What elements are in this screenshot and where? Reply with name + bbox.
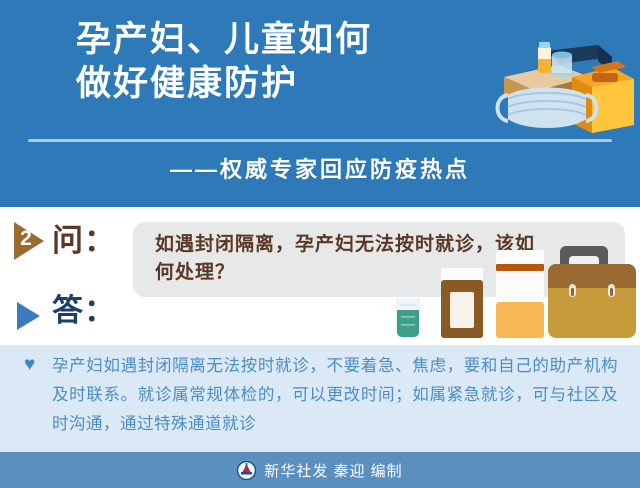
qa-section: 2 问： 答： 如遇封闭隔离，孕产妇无法按时就诊，该如何处理？ <box>0 207 640 345</box>
answer-panel: ♥ 孕产妇如遇封闭隔离无法按时就诊，不要着急、焦虑，要和自己的助产机构及时联系。… <box>0 345 640 452</box>
footer-credit: 新华社发 秦迎 编制 <box>264 460 402 481</box>
answer-marker: 答： <box>14 293 134 339</box>
medical-kit-icon <box>486 33 638 145</box>
page-title: 孕产妇、儿童如何 做好健康防护 <box>76 18 496 106</box>
title-line-1: 孕产妇、儿童如何 <box>76 18 496 62</box>
answer-text: 孕产妇如遇封闭隔离无法按时就诊，不要着急、焦虑，要和自己的助产机构及时联系。就诊… <box>52 352 618 439</box>
answer-label: 答： <box>52 289 116 333</box>
infographic-poster: 孕产妇、儿童如何 做好健康防护 ——权威专家回应防疫热点 <box>0 0 640 488</box>
header-subtitle: ——权威专家回应防疫热点 <box>0 152 640 184</box>
footer-bar: 新华社发 秦迎 编制 <box>0 452 640 488</box>
heart-icon: ♥ <box>24 355 44 375</box>
title-line-2: 做好健康防护 <box>76 62 496 106</box>
question-number: 2 <box>16 228 36 249</box>
question-marker: 2 问： <box>14 219 134 265</box>
question-label: 问： <box>52 219 116 263</box>
header-banner: 孕产妇、儿童如何 做好健康防护 ——权威专家回应防疫热点 <box>0 0 640 207</box>
answer-triangle-icon <box>17 302 40 330</box>
xinhua-logo-icon <box>237 461 256 480</box>
medical-supplies-icon <box>384 232 640 345</box>
